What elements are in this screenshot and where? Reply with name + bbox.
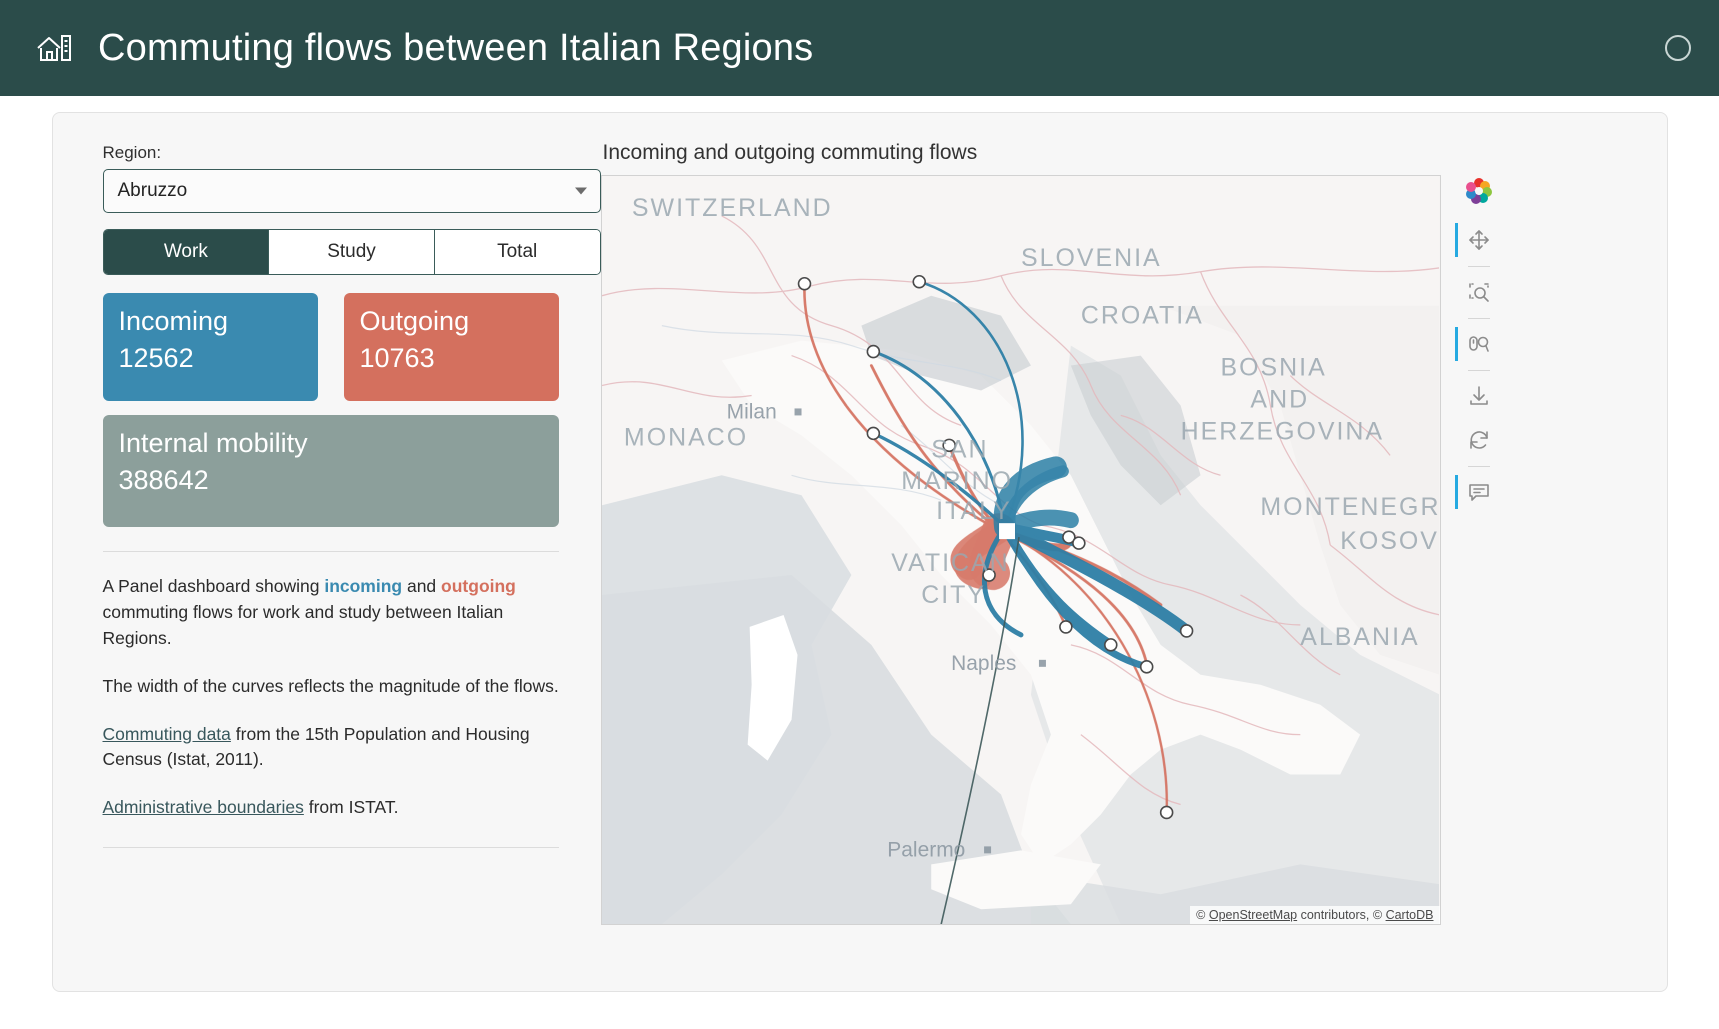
country-label: AND [1250, 385, 1309, 413]
desc-p1-b: and [402, 576, 441, 596]
city-label: Milan [726, 400, 776, 423]
toolbar-separator [1468, 466, 1490, 467]
country-label: KOSOVO [1340, 527, 1440, 555]
copyright-symbol-1: © [1196, 908, 1205, 922]
map-canvas[interactable]: SWITZERLAND SLOVENIA CROATIA BOSNIA AND … [602, 176, 1440, 924]
tab-work[interactable]: Work [104, 230, 270, 274]
cartodb-link[interactable]: CartoDB [1386, 908, 1434, 922]
desc-p1-c: commuting flows for work and study betwe… [103, 602, 504, 648]
keyword-incoming: incoming [324, 576, 402, 596]
metric-title-internal-mobility: Internal mobility [119, 428, 543, 459]
toolbar-separator [1468, 266, 1490, 267]
country-label: HERZEGOVINA [1180, 417, 1383, 445]
country-label: MONACO [623, 423, 747, 451]
country-label: ITALY [936, 497, 1012, 525]
mode-tab-group[interactable]: Work Study Total [103, 229, 601, 275]
commuting-data-link[interactable]: Commuting data [103, 724, 231, 744]
page-body: Region: Abruzzo Work Study Total Incomin… [0, 96, 1719, 1029]
box-zoom-tool[interactable] [1458, 271, 1500, 313]
sidebar-divider-bottom [103, 847, 559, 848]
metric-value-incoming: 12562 [119, 343, 302, 374]
metric-value-outgoing: 10763 [360, 343, 543, 374]
app-header: Commuting flows between Italian Regions [0, 0, 1719, 96]
metric-card-incoming: Incoming 12562 [103, 293, 318, 401]
save-tool[interactable] [1458, 375, 1500, 417]
tab-total[interactable]: Total [435, 230, 600, 274]
country-label: CITY [921, 581, 986, 609]
description-paragraph-4: Administrative boundaries from ISTAT. [103, 795, 563, 821]
map-shell: SWITZERLAND SLOVENIA CROATIA BOSNIA AND … [601, 175, 1641, 925]
toolbar-separator [1468, 370, 1490, 371]
sidebar: Region: Abruzzo Work Study Total Incomin… [79, 137, 579, 967]
page-title: Commuting flows between Italian Regions [98, 27, 813, 70]
desc-p1-a: A Panel dashboard showing [103, 576, 325, 596]
desc-p4-rest: from ISTAT. [304, 797, 399, 817]
pan-tool[interactable] [1458, 219, 1500, 261]
city-label: Naples [951, 652, 1016, 675]
country-label: VATICAN [891, 549, 1009, 577]
description-paragraph-2: The width of the curves reflects the mag… [103, 674, 563, 700]
dashboard-description: A Panel dashboard showing incoming and o… [103, 574, 563, 821]
metric-row: Incoming 12562 Outgoing 10763 [103, 293, 571, 401]
country-label: MARINO [901, 467, 1013, 495]
country-label: SWITZERLAND [631, 194, 832, 222]
metric-card-outgoing: Outgoing 10763 [344, 293, 559, 401]
metric-value-internal-mobility: 388642 [119, 465, 543, 496]
loading-spinner-icon [1665, 35, 1691, 61]
city-label: Palermo [887, 838, 965, 861]
map-title: Incoming and outgoing commuting flows [603, 141, 1641, 165]
country-label: ALBANIA [1300, 623, 1419, 651]
region-select[interactable]: Abruzzo [103, 169, 601, 213]
country-label: MONTENEGRO [1260, 493, 1440, 521]
copyright-symbol-2: © [1373, 908, 1382, 922]
wheel-zoom-tool[interactable] [1458, 323, 1500, 365]
building-home-icon [32, 26, 76, 70]
reset-tool[interactable] [1458, 419, 1500, 461]
openstreetmap-link[interactable]: OpenStreetMap [1209, 908, 1297, 922]
flow-map[interactable]: SWITZERLAND SLOVENIA CROATIA BOSNIA AND … [601, 175, 1441, 925]
dashboard-card: Region: Abruzzo Work Study Total Incomin… [52, 112, 1668, 992]
description-paragraph-3: Commuting data from the 15th Population … [103, 722, 563, 774]
bokeh-logo-icon [1465, 177, 1493, 205]
map-panel: Incoming and outgoing commuting flows [601, 137, 1641, 967]
map-attribution: © OpenStreetMap contributors, © CartoDB [1190, 906, 1439, 924]
metric-card-internal-mobility: Internal mobility 388642 [103, 415, 559, 527]
country-label: CROATIA [1080, 302, 1203, 330]
administrative-boundaries-link[interactable]: Administrative boundaries [103, 797, 304, 817]
keyword-outgoing: outgoing [441, 576, 516, 596]
description-paragraph-1: A Panel dashboard showing incoming and o… [103, 574, 563, 652]
sidebar-divider [103, 551, 559, 552]
metric-title-outgoing: Outgoing [360, 306, 543, 337]
toolbar-separator [1468, 318, 1490, 319]
attribution-mid-text: contributors, [1297, 908, 1373, 922]
country-label: SAN [931, 435, 988, 463]
region-select-wrapper[interactable]: Abruzzo [103, 169, 601, 213]
tab-study[interactable]: Study [269, 230, 435, 274]
country-label: BOSNIA [1220, 354, 1326, 382]
metric-title-incoming: Incoming [119, 306, 302, 337]
region-select-label: Region: [103, 143, 571, 163]
hover-tool[interactable] [1458, 471, 1500, 513]
country-label: SLOVENIA [1020, 244, 1161, 272]
map-toolbar [1451, 175, 1507, 925]
